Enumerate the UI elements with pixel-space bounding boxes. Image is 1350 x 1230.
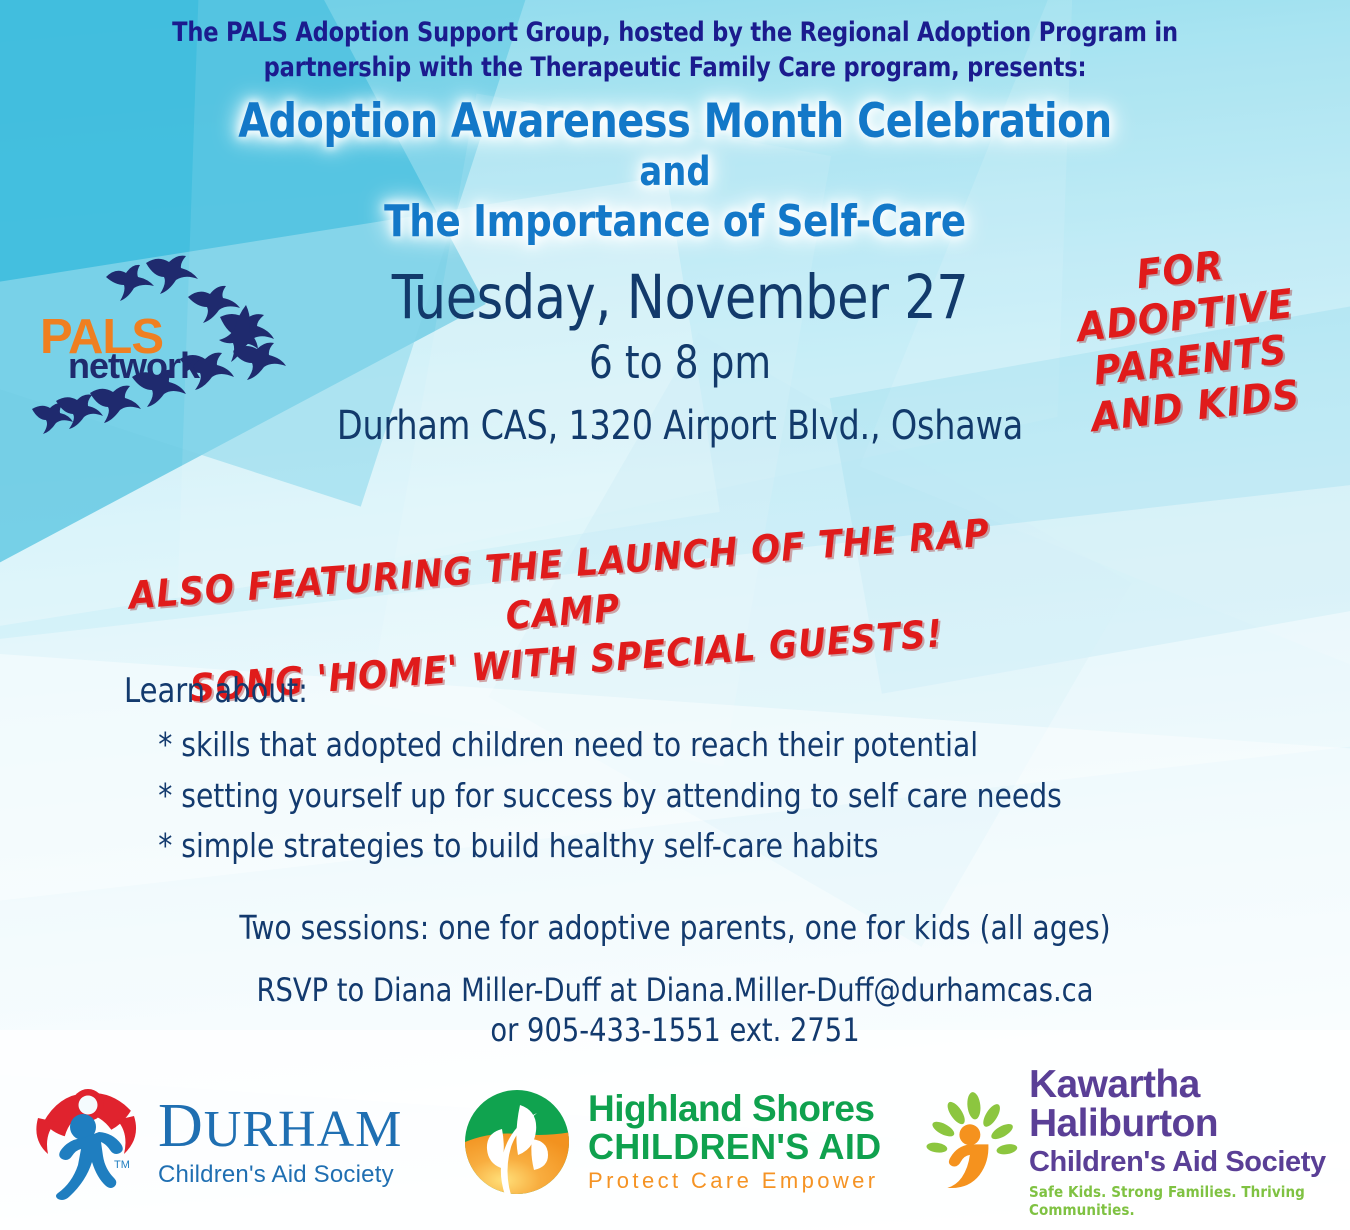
durham-subtitle: Children's Aid Society — [158, 1161, 402, 1189]
learn-about-heading: Learn about: — [124, 672, 1207, 710]
partner-logo-row: TM DURHAM Children's Aid Society — [0, 1062, 1350, 1222]
title-line-2: and — [41, 149, 1310, 196]
rsvp-email-line: RSVP to Diana Miller-Duff at Diana.Mille… — [34, 970, 1317, 1010]
rsvp-phone-line: or 905-433-1551 ext. 2751 — [34, 1010, 1317, 1050]
kawartha-tagline: Safe Kids. Strong Families. Thriving Com… — [1029, 1183, 1340, 1219]
durham-wordmark: DURHAM — [158, 1095, 402, 1157]
event-details: Tuesday, November 27 6 to 8 pm Durham CA… — [280, 265, 1080, 457]
kawartha-wordmark-line-1: Kawartha — [1029, 1065, 1340, 1104]
title-line-1: Adoption Awareness Month Celebration — [41, 96, 1310, 149]
page-title: Adoption Awareness Month Celebration and… — [41, 96, 1310, 247]
intro-text: The PALS Adoption Support Group, hosted … — [47, 16, 1303, 85]
event-location: Durham CAS, 1320 Airport Blvd., Oshawa — [280, 395, 1080, 457]
learn-about-section: Learn about: * skills that adopted child… — [124, 672, 1207, 872]
durham-cas-logo: TM DURHAM Children's Aid Society — [0, 1082, 440, 1202]
intro-line-1: The PALS Adoption Support Group, hosted … — [47, 16, 1303, 51]
highland-circle-plant-icon — [458, 1083, 576, 1201]
kawartha-subtitle: Children's Aid Society — [1029, 1145, 1340, 1180]
highland-wordmark-line-2: CHILDREN'S AID — [588, 1128, 881, 1165]
pals-subwordmark: network — [68, 345, 199, 387]
audience-callout: FOR ADOPTIVE PARENTS AND KIDS — [1036, 232, 1340, 446]
trademark-symbol: TM — [114, 1159, 130, 1171]
kawartha-haliburton-logo: Kawartha Haliburton Children's Aid Socie… — [910, 1065, 1340, 1219]
event-time: 6 to 8 pm — [280, 331, 1080, 395]
event-flyer: The PALS Adoption Support Group, hosted … — [0, 0, 1350, 1230]
list-item: * skills that adopted children need to r… — [124, 720, 1207, 770]
event-date: Tuesday, November 27 — [280, 265, 1080, 331]
kawartha-figure-leaves-icon — [924, 1081, 1019, 1203]
list-item: * simple strategies to build healthy sel… — [124, 821, 1207, 871]
highland-shores-logo: Highland Shores CHILDREN'S AID Protect C… — [440, 1083, 910, 1201]
title-line-3: The Importance of Self-Care — [41, 196, 1310, 247]
pals-network-logo: PALS network — [28, 255, 298, 435]
rsvp-block: RSVP to Diana Miller-Duff at Diana.Mille… — [34, 970, 1317, 1051]
list-item: * setting yourself up for success by att… — [124, 771, 1207, 821]
durham-figure-icon: TM — [28, 1082, 146, 1202]
sessions-note: Two sessions: one for adoptive parents, … — [34, 908, 1317, 947]
intro-line-2: partnership with the Therapeutic Family … — [47, 51, 1303, 86]
highland-wordmark-line-1: Highland Shores — [588, 1090, 881, 1128]
kawartha-wordmark-line-2: Haliburton — [1029, 1104, 1340, 1143]
highland-tagline: Protect Care Empower — [588, 1168, 881, 1194]
